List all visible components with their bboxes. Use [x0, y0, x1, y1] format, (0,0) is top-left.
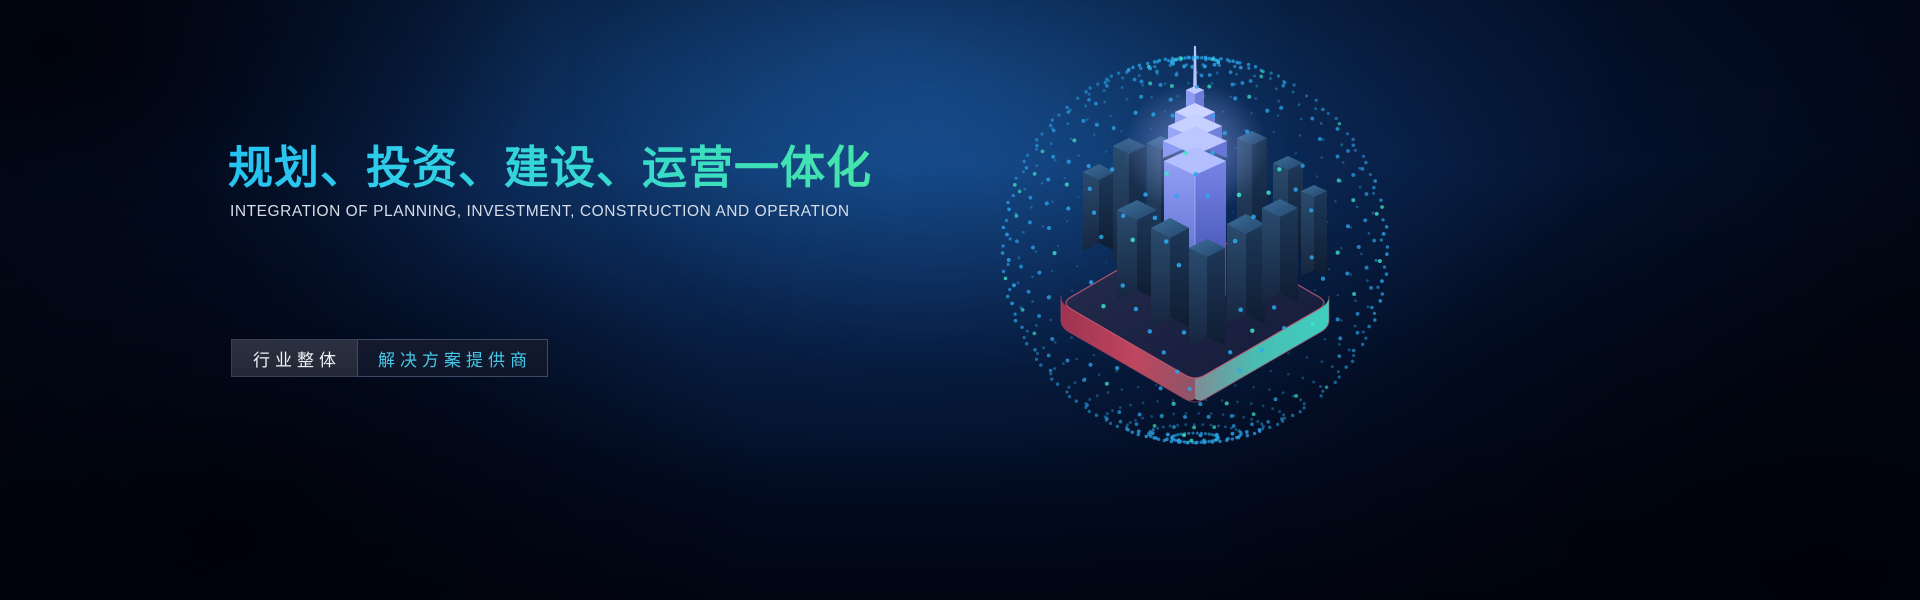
hero-badge: 行业整体 解决方案提供商 [231, 339, 548, 377]
badge-segment-industry: 行业整体 [231, 339, 357, 377]
badge-segment-solution-provider: 解决方案提供商 [357, 339, 548, 377]
hero-banner: 规划、投资、建设、运营一体化 INTEGRATION OF PLANNING, … [0, 0, 1920, 600]
hero-subheadline: INTEGRATION OF PLANNING, INVESTMENT, CON… [230, 203, 850, 221]
hero-copy-block: 规划、投资、建设、运营一体化 INTEGRATION OF PLANNING, … [228, 0, 1048, 600]
hero-headline: 规划、投资、建设、运营一体化 [228, 142, 872, 194]
hero-artwork [965, 28, 1415, 478]
